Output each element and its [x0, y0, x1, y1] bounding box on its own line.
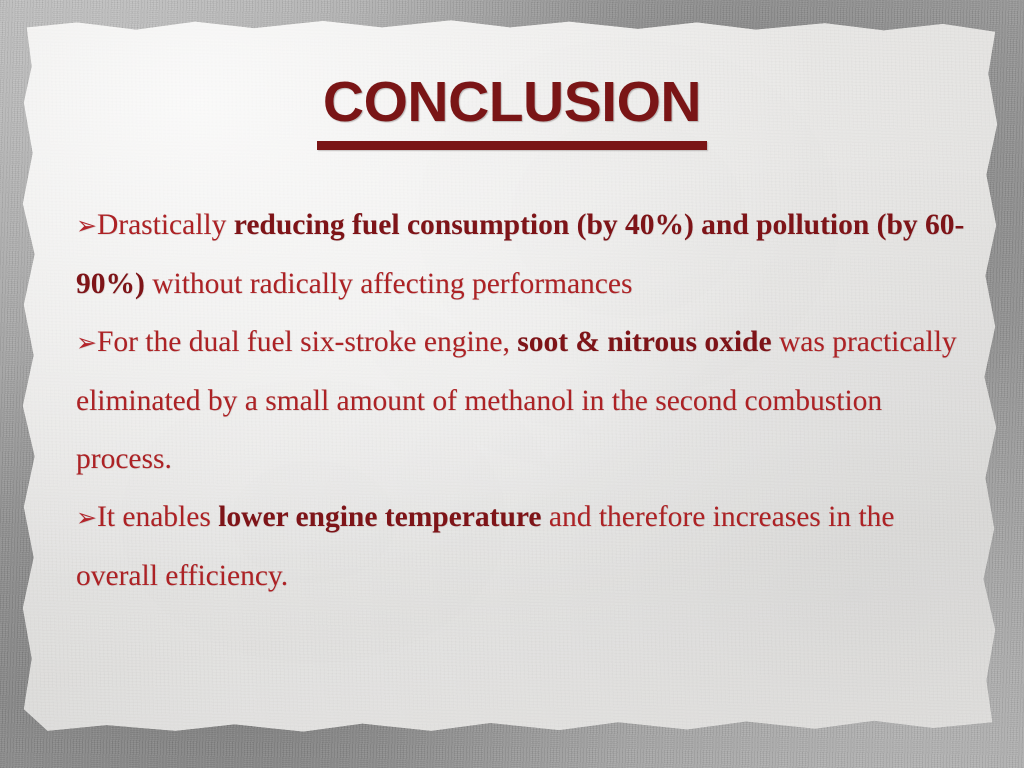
- arrow-bullet-icon: ➢: [76, 503, 97, 532]
- bullet-2-run-0: For the dual fuel six-stroke engine,: [97, 326, 517, 358]
- title-block: CONCLUSION: [0, 74, 1024, 150]
- presentation-slide: CONCLUSION ➢Drastically reducing fuel co…: [0, 0, 1024, 768]
- bullet-2-run-1: soot & nitrous oxide: [517, 326, 771, 358]
- list-item: ➢Drastically reducing fuel consumption (…: [76, 196, 966, 313]
- bullet-1-run-2: without radically affecting performances: [145, 268, 633, 300]
- list-item: ➢It enables lower engine temperature and…: [76, 488, 966, 605]
- bullet-3-run-1: lower engine temperature: [218, 501, 541, 533]
- bullet-list: ➢Drastically reducing fuel consumption (…: [76, 196, 966, 605]
- title-underline: [317, 141, 707, 150]
- bullet-3-run-0: It enables: [97, 501, 218, 533]
- page-title: CONCLUSION: [323, 74, 701, 131]
- arrow-bullet-icon: ➢: [76, 328, 97, 357]
- list-item: ➢For the dual fuel six-stroke engine, so…: [76, 313, 966, 488]
- slide-content: CONCLUSION ➢Drastically reducing fuel co…: [0, 0, 1024, 768]
- arrow-bullet-icon: ➢: [76, 211, 97, 240]
- bullet-1-run-0: Drastically: [97, 209, 234, 241]
